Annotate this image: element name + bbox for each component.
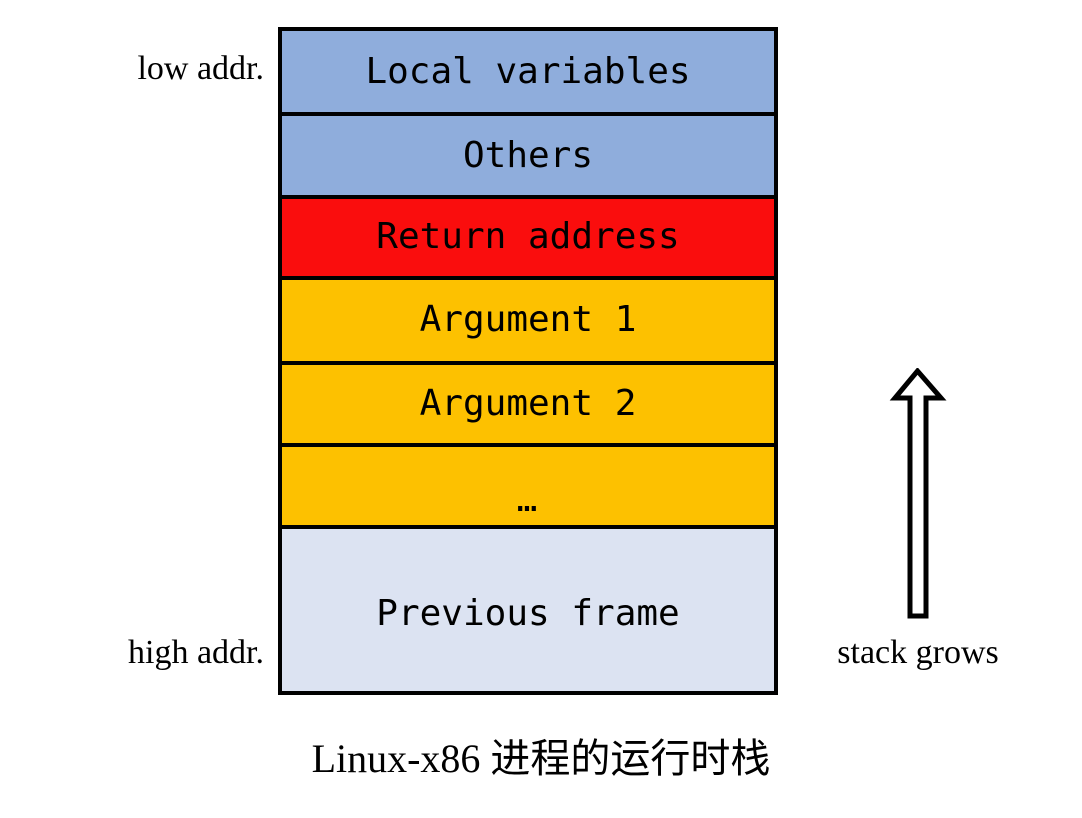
stack-cell-label: Argument 2 [420, 386, 637, 422]
stack-cell-label: Previous frame [376, 596, 679, 632]
stack-frame: Local variables Others Return address Ar… [278, 27, 778, 695]
stack-cell-label: Argument 1 [420, 302, 637, 338]
stack-cell-previous-frame: Previous frame [282, 529, 774, 691]
up-arrow-shape [895, 371, 941, 616]
diagram-canvas: low addr. high addr. Local variables Oth… [0, 0, 1082, 818]
stack-cell-others: Others [282, 116, 774, 199]
up-arrow-icon [888, 368, 948, 620]
stack-cell-return-address: Return address [282, 199, 774, 280]
stack-cell-label: Others [463, 138, 593, 174]
stack-grows-label: stack grows [800, 636, 1036, 670]
figure-caption: Linux-x86 进程的运行时栈 [0, 735, 1082, 783]
high-address-label: high addr. [62, 636, 264, 670]
stack-cell-local-variables: Local variables [282, 31, 774, 116]
stack-cell-label: Local variables [365, 54, 690, 90]
stack-cell-label: … [517, 483, 539, 517]
low-address-label: low addr. [68, 52, 264, 86]
stack-cell-argument-1: Argument 1 [282, 280, 774, 365]
stack-cell-label: Return address [376, 219, 679, 255]
stack-cell-ellipsis: … [282, 447, 774, 530]
stack-cell-argument-2: Argument 2 [282, 365, 774, 447]
